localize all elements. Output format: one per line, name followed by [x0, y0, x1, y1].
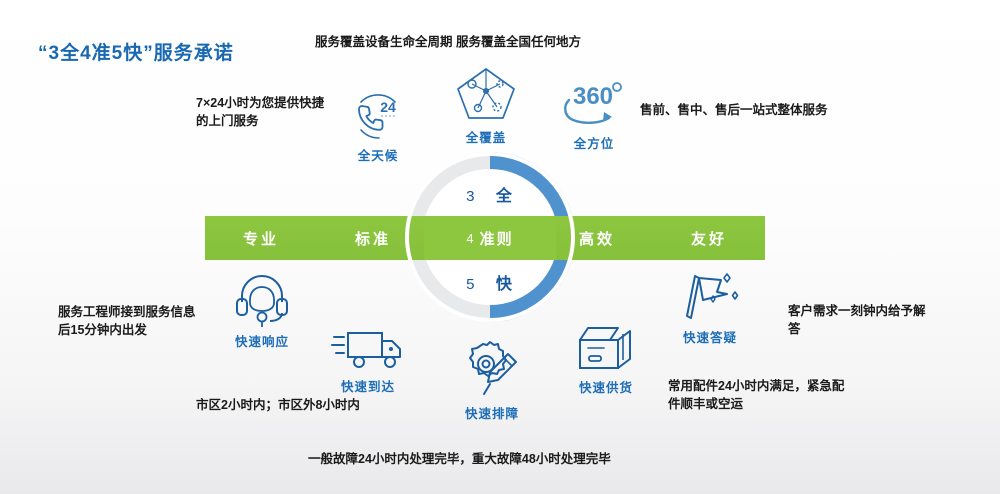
ring-row-3-label: 全: [496, 188, 514, 205]
green-bar-item-1[interactable]: 标准: [317, 228, 429, 249]
icon-all-weather[interactable]: 24 全天候: [330, 86, 426, 164]
phone-24-icon: 24: [348, 86, 408, 142]
svg-text:360: 360: [573, 83, 613, 110]
icon-caption: 全方位: [546, 133, 642, 152]
note-top-right: 售前、售中、售后一站式整体服务: [640, 101, 828, 119]
ring-row-3: 3 全: [405, 182, 575, 206]
gear-screwdriver-icon: [460, 340, 524, 400]
headset-icon: [233, 272, 291, 328]
open-box-icon: [572, 320, 640, 374]
truck-icon: [330, 325, 406, 373]
green-bar-item-2[interactable]: 高效: [541, 228, 653, 249]
slide-canvas: “3全4准5快”服务承诺 服务覆盖设备生命全周期 服务覆盖全国任何地方 7×24…: [0, 0, 1000, 494]
ring-row-4: 4 准则: [424, 216, 556, 260]
icon-fast-arrival[interactable]: 快速到达: [320, 325, 416, 395]
ring-row-5-num: 5: [466, 276, 476, 293]
icon-fast-supply[interactable]: 快速供货: [558, 320, 654, 396]
icon-fast-repair[interactable]: 快速排障: [444, 340, 540, 422]
note-bottom-center: 一般故障24小时内处理完毕，重大故障48小时处理完毕: [308, 450, 611, 468]
note-bottom-right: 常用配件24小时内满足，紧急配 件顺丰或空运: [668, 377, 844, 413]
icon-caption: 快速到达: [320, 376, 416, 395]
icon-fast-response[interactable]: 快速响应: [214, 272, 310, 350]
green-bar-item-0[interactable]: 专业: [205, 228, 317, 249]
icon-caption: 快速答疑: [662, 327, 758, 346]
icon-caption: 全覆盖: [438, 127, 534, 146]
icon-full-coverage[interactable]: 全覆盖: [438, 64, 534, 146]
icon-caption: 快速供货: [558, 377, 654, 396]
top-headline: 服务覆盖设备生命全周期 服务覆盖全国任何地方: [315, 33, 581, 51]
ring-row-3-num: 3: [466, 188, 476, 205]
icon-caption: 全天候: [330, 145, 426, 164]
green-bar-item-3[interactable]: 友好: [653, 228, 765, 249]
ring-row-5-label: 快: [496, 276, 514, 293]
icon-caption: 快速排障: [444, 403, 540, 422]
note-top-left: 7×24小时为您提供快捷 的上门服务: [196, 94, 324, 130]
ring-row-4-num: 4: [466, 231, 473, 246]
note-bottom-left: 市区2小时内；市区外8小时内: [196, 396, 360, 414]
360-arrow-icon: 360: [559, 78, 629, 130]
icon-fast-answer[interactable]: 快速答疑: [662, 270, 758, 346]
ring-row-4-label: 准则: [480, 228, 514, 249]
note-mid-right: 客户需求一刻钟内给予解 答: [788, 302, 926, 338]
icon-caption: 快速响应: [214, 331, 310, 350]
pentagon-network-icon: [454, 64, 518, 124]
page-title: “3全4准5快”服务承诺: [38, 38, 234, 65]
icon-omni-directional[interactable]: 360 全方位: [546, 78, 642, 152]
svg-text:24: 24: [380, 99, 396, 115]
flag-icon: [679, 270, 741, 324]
note-mid-left: 服务工程师接到服务信息 后15分钟内出发: [58, 303, 196, 339]
ring-row-5: 5 快: [405, 270, 575, 294]
